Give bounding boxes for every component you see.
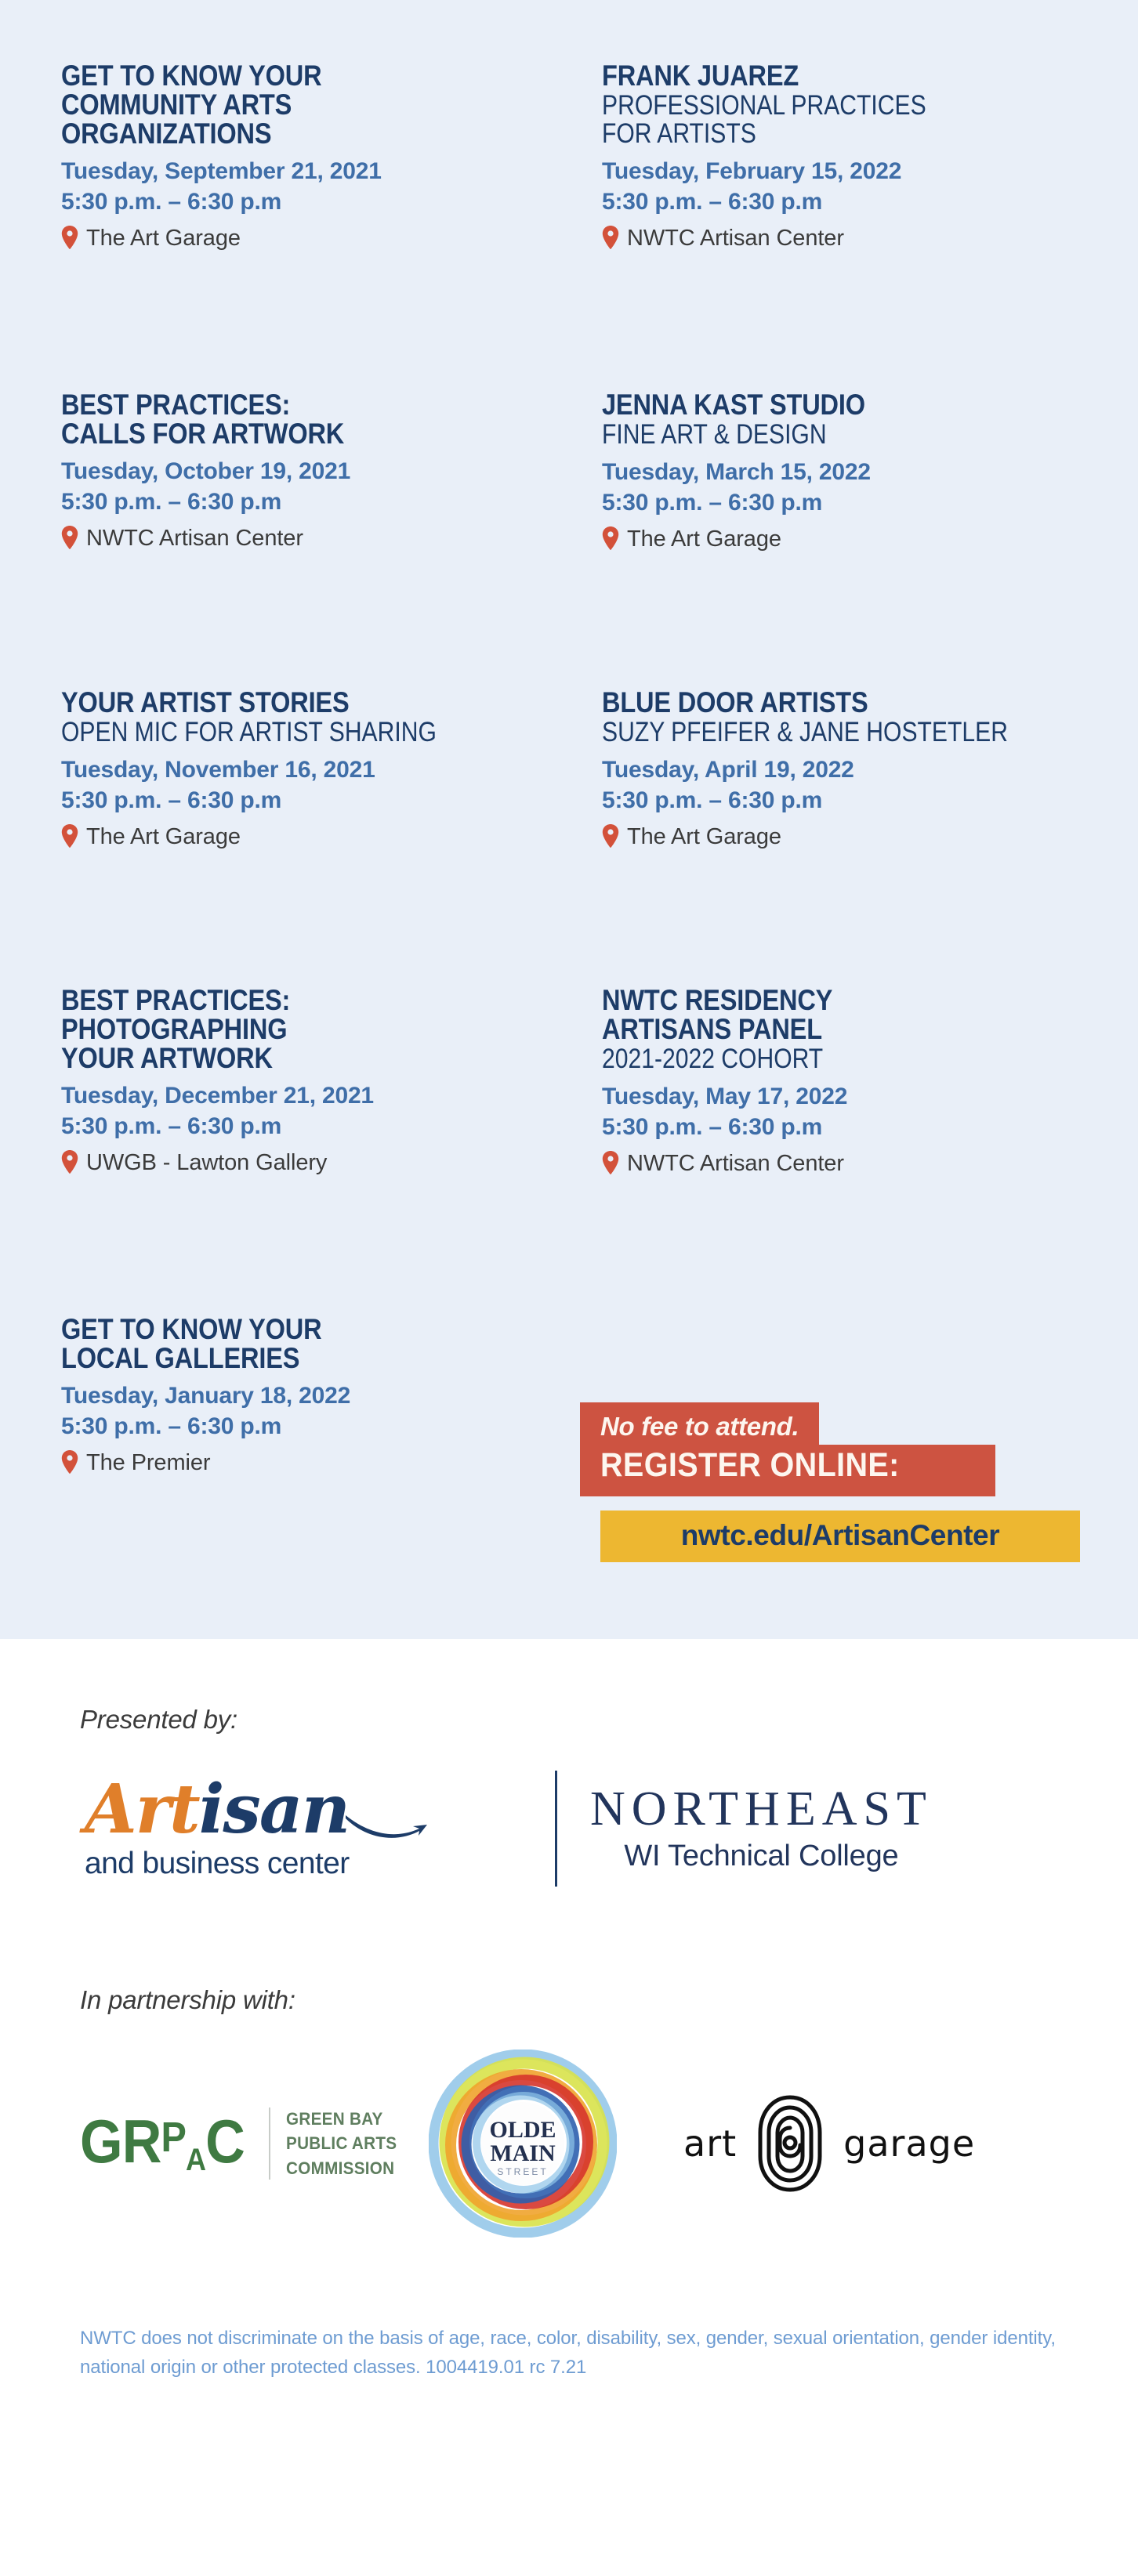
olde-main-ring: OLDE MAIN STREET — [429, 2050, 617, 2238]
northeast-logo: NORTHEAST WI Technical College — [590, 1785, 933, 1873]
gbpac-logo: GRPAC GREEN BAY PUBLIC ARTS COMMISSION — [80, 2107, 409, 2180]
artisan-wordmark: Artisan — [85, 1776, 539, 1843]
event-date: Tuesday, December 21, 2021 — [61, 1080, 578, 1111]
register-online-label: REGISTER ONLINE: — [580, 1445, 995, 1496]
rainbow-ring-icon: OLDE MAIN STREET — [429, 2050, 617, 2238]
event-subtitle: OPEN MIC FOR ARTIST SHARING — [61, 718, 506, 747]
olde-text-line3: STREET — [497, 2166, 548, 2177]
event-card[interactable]: JENNA KAST STUDIO FINE ART & DESIGN Tues… — [602, 390, 1119, 688]
event-subtitle: SUZY PFEIFER & JANE HOSTETLER — [602, 718, 1047, 747]
location-pin-icon — [602, 526, 619, 550]
event-date: Tuesday, April 19, 2022 — [602, 754, 1119, 785]
event-location: The Art Garage — [602, 523, 1119, 552]
event-location: The Premier — [61, 1446, 578, 1476]
register-url-domain: nwtc.edu/ — [681, 1519, 812, 1551]
olde-text-line2: MAIN — [490, 2140, 556, 2166]
location-pin-icon — [61, 1150, 78, 1174]
location-pin-icon — [61, 1450, 78, 1474]
event-card[interactable]: BLUE DOOR ARTISTS SUZY PFEIFER & JANE HO… — [602, 688, 1119, 986]
event-date: Tuesday, September 21, 2021 — [61, 156, 578, 186]
events-panel: GET TO KNOW YOUR COMMUNITY ARTS ORGANIZA… — [0, 0, 1138, 1639]
event-location-text: The Art Garage — [86, 226, 241, 251]
event-location-text: NWTC Artisan Center — [627, 1151, 844, 1177]
event-date: Tuesday, November 16, 2021 — [61, 754, 578, 785]
event-location: The Art Garage — [61, 820, 578, 850]
event-title: BEST PRACTICES: PHOTOGRAPHING YOUR ARTWO… — [61, 986, 516, 1073]
event-location-text: NWTC Artisan Center — [627, 226, 844, 251]
gbpac-monogram: GRPAC — [80, 2111, 245, 2176]
event-location-text: NWTC Artisan Center — [86, 526, 303, 552]
nondiscrimination-disclaimer: NWTC does not discriminate on the basis … — [80, 2324, 1099, 2382]
event-card[interactable]: NWTC RESIDENCY ARTISANS PANEL 2021-2022 … — [602, 986, 1119, 1315]
event-card[interactable]: BEST PRACTICES: CALLS FOR ARTWORK Tuesda… — [61, 390, 578, 688]
partner-logo-row: GRPAC GREEN BAY PUBLIC ARTS COMMISSION O… — [80, 2050, 1077, 2238]
event-time: 5:30 p.m. – 6:30 p.m — [61, 1411, 578, 1442]
event-date: Tuesday, March 15, 2022 — [602, 457, 1119, 487]
events-column-right: FRANK JUAREZ PROFESSIONAL PRACTICES FOR … — [602, 61, 1119, 1550]
event-subtitle: FINE ART & DESIGN — [602, 421, 1047, 449]
logo-divider — [555, 1771, 557, 1887]
event-time: 5:30 p.m. – 6:30 p.m — [602, 487, 1119, 518]
event-title: YOUR ARTIST STORIES — [61, 688, 516, 717]
event-card[interactable]: GET TO KNOW YOUR LOCAL GALLERIES Tuesday… — [61, 1315, 578, 1550]
location-pin-icon — [61, 526, 78, 549]
event-location: NWTC Artisan Center — [61, 522, 578, 552]
event-location: UWGB - Lawton Gallery — [61, 1146, 578, 1176]
event-time: 5:30 p.m. – 6:30 p.m — [602, 186, 1119, 217]
event-time: 5:30 p.m. – 6:30 p.m — [61, 487, 578, 517]
artisan-logo: Artisan and business center — [85, 1776, 539, 1881]
event-card[interactable]: GET TO KNOW YOUR COMMUNITY ARTS ORGANIZA… — [61, 61, 578, 390]
events-column-left: GET TO KNOW YOUR COMMUNITY ARTS ORGANIZA… — [61, 61, 578, 1550]
event-location-text: The Premier — [86, 1450, 210, 1476]
event-subtitle: PROFESSIONAL PRACTICES FOR ARTISTS — [602, 92, 1047, 148]
gbpac-letter-g: G — [80, 2107, 122, 2176]
partnership-label: In partnership with: — [80, 1985, 1077, 2015]
artisan-art-text: Art — [85, 1770, 199, 1849]
event-location: The Art Garage — [61, 222, 578, 251]
event-time: 5:30 p.m. – 6:30 p.m — [61, 1111, 578, 1141]
artisan-tagline: and business center — [85, 1847, 539, 1881]
event-title: BLUE DOOR ARTISTS — [602, 688, 1057, 717]
no-fee-label: No fee to attend. — [580, 1402, 819, 1445]
register-url[interactable]: nwtc.edu/ArtisanCenter — [600, 1511, 1080, 1563]
event-date: Tuesday, February 15, 2022 — [602, 156, 1119, 186]
event-location-text: The Art Garage — [627, 824, 781, 850]
location-pin-icon — [602, 1151, 619, 1174]
olde-text-line1: OLDE — [489, 2117, 556, 2143]
event-title: FRANK JUAREZ — [602, 61, 1057, 90]
event-time: 5:30 p.m. – 6:30 p.m — [602, 785, 1119, 816]
event-title: GET TO KNOW YOUR COMMUNITY ARTS ORGANIZA… — [61, 61, 516, 148]
event-title: JENNA KAST STUDIO — [602, 390, 1057, 419]
sponsor-logo-row: Artisan and business center NORTHEAST WI… — [85, 1771, 1077, 1887]
event-title: BEST PRACTICES: CALLS FOR ARTWORK — [61, 390, 516, 448]
register-url-path: ArtisanCenter — [812, 1519, 999, 1551]
artisan-isan-text: isan — [199, 1770, 349, 1849]
event-date: Tuesday, May 17, 2022 — [602, 1081, 1119, 1112]
artisan-swoosh-icon — [344, 1807, 430, 1843]
event-location: NWTC Artisan Center — [602, 222, 1119, 251]
footer: Presented by: Artisan and business cente… — [0, 1639, 1138, 2413]
northeast-subtitle: WI Technical College — [590, 1840, 933, 1873]
art-garage-word-garage: garage — [843, 2122, 975, 2165]
event-card[interactable]: FRANK JUAREZ PROFESSIONAL PRACTICES FOR … — [602, 61, 1119, 390]
events-grid: GET TO KNOW YOUR COMMUNITY ARTS ORGANIZA… — [61, 61, 1077, 1550]
register-callout[interactable]: No fee to attend. REGISTER ONLINE: nwtc.… — [580, 1402, 1082, 1562]
event-location-text: The Art Garage — [627, 526, 781, 552]
event-time: 5:30 p.m. – 6:30 p.m — [602, 1112, 1119, 1142]
art-garage-word-art: art — [683, 2122, 737, 2165]
presented-by-label: Presented by: — [80, 1705, 1077, 1735]
northeast-wordmark: NORTHEAST — [590, 1785, 933, 1833]
art-garage-logo: art garage — [683, 2093, 975, 2194]
event-date: Tuesday, October 19, 2021 — [61, 456, 578, 487]
gbpac-letter-c: C — [205, 2107, 245, 2176]
event-location-text: The Art Garage — [86, 824, 241, 850]
event-time: 5:30 p.m. – 6:30 p.m — [61, 186, 578, 217]
event-location: The Art Garage — [602, 820, 1119, 850]
gbpac-name: GREEN BAY PUBLIC ARTS COMMISSION — [286, 2107, 397, 2180]
gbpac-letter-r: R — [122, 2107, 161, 2176]
gbpac-letter-a: A — [186, 2143, 205, 2177]
fingerprint-icon — [754, 2093, 826, 2194]
event-location: NWTC Artisan Center — [602, 1147, 1119, 1177]
location-pin-icon — [61, 226, 78, 249]
event-card[interactable]: BEST PRACTICES: PHOTOGRAPHING YOUR ARTWO… — [61, 986, 578, 1315]
event-title: NWTC RESIDENCY ARTISANS PANEL — [602, 986, 1057, 1044]
gbpac-rule — [269, 2107, 270, 2180]
location-pin-icon — [602, 226, 619, 249]
olde-main-street-logo: OLDE MAIN STREET — [409, 2050, 636, 2238]
gbpac-letter-p: P — [161, 2114, 187, 2161]
event-subtitle: 2021-2022 COHORT — [602, 1045, 1047, 1073]
event-location-text: UWGB - Lawton Gallery — [86, 1150, 327, 1176]
location-pin-icon — [602, 824, 619, 848]
event-time: 5:30 p.m. – 6:30 p.m — [61, 785, 578, 816]
event-card[interactable]: YOUR ARTIST STORIES OPEN MIC FOR ARTIST … — [61, 688, 578, 986]
location-pin-icon — [61, 824, 78, 848]
event-date: Tuesday, January 18, 2022 — [61, 1380, 578, 1411]
event-title: GET TO KNOW YOUR LOCAL GALLERIES — [61, 1315, 516, 1373]
